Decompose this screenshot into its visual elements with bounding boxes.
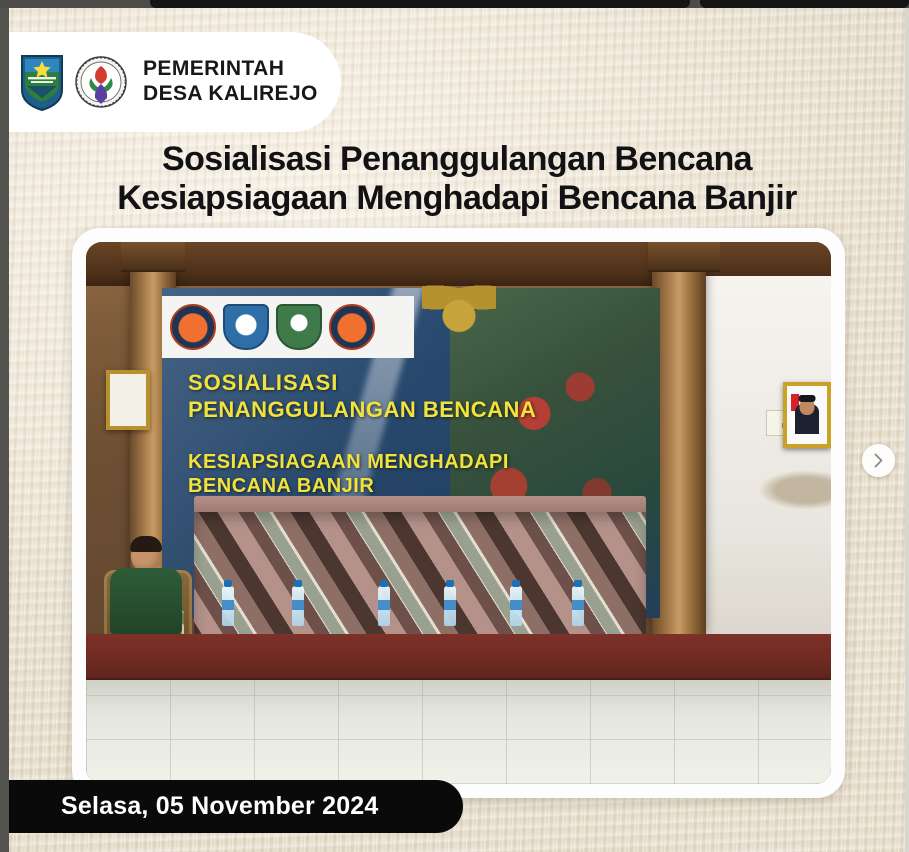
white-wall [706, 276, 831, 634]
regency-coat-of-arms-icon [19, 52, 65, 112]
chevron-right-icon [872, 453, 885, 468]
pillar-capital-left [121, 242, 185, 272]
water-bottle [222, 586, 234, 626]
wooden-pillar-right [652, 242, 706, 634]
carousel-viewport: PEMERINTAH DESA KALIREJO Sosialisasi Pen… [0, 0, 909, 852]
banner-line-2: PENANGGULANGAN BENCANA [188, 397, 628, 424]
banner-text: SOSIALISASI PENANGGULANGAN BENCANA KESIA… [188, 370, 628, 498]
speaker-head [131, 538, 161, 572]
water-bottle [292, 586, 304, 626]
speaker-military-officer [110, 538, 182, 634]
title-line-1: Sosialisasi Penanggulangan Bencana [9, 140, 905, 179]
organization-line-1: PEMERINTAH [143, 57, 318, 82]
pillar-capital-right [648, 242, 720, 272]
framed-presidential-portrait [783, 382, 831, 448]
water-bottle [572, 586, 584, 626]
banner-logo-strip [162, 296, 414, 358]
organization-header: PEMERINTAH DESA KALIREJO [9, 32, 341, 132]
village-government-seal-icon [75, 56, 127, 108]
portrait-cap [799, 395, 816, 402]
event-photo: JADILAH KEBERSIHAN [86, 242, 831, 784]
right-frame-gutter [905, 8, 909, 852]
previous-slide-sliver [0, 0, 909, 8]
water-bottle [378, 586, 390, 626]
banner-line-1: SOSIALISASI [188, 370, 628, 397]
page-title: Sosialisasi Penanggulangan Bencana Kesia… [9, 140, 905, 219]
bpbd-logo-secondary-icon [329, 304, 375, 350]
left-frame-gutter [0, 8, 9, 852]
photo-card: JADILAH KEBERSIHAN [72, 228, 845, 798]
speaker-hair [130, 536, 162, 552]
water-bottle [510, 586, 522, 626]
tiled-floor [86, 680, 831, 784]
organization-name: PEMERINTAH DESA KALIREJO [143, 57, 318, 107]
garuda-emblem-icon [422, 280, 496, 338]
speaker-body [110, 568, 182, 634]
previous-slide-chip-left [150, 0, 690, 8]
previous-slide-chip-right [700, 0, 909, 8]
water-bottle [444, 586, 456, 626]
title-line-2: Kesiapsiagaan Menghadapi Bencana Banjir [9, 179, 905, 218]
province-emblem-icon [223, 304, 269, 350]
slide-content: PEMERINTAH DESA KALIREJO Sosialisasi Pen… [9, 8, 905, 852]
event-date-banner: Selasa, 05 November 2024 [9, 780, 463, 833]
banner-line-4: BENCANA BANJIR [188, 474, 628, 498]
bpbd-logo-icon [170, 304, 216, 350]
banner-line-3: KESIAPSIAGAAN MENGHADAPI [188, 450, 628, 474]
regency-emblem-icon [276, 304, 322, 350]
stage-platform [86, 634, 831, 680]
framed-portrait-left [106, 370, 150, 430]
carousel-next-button[interactable] [862, 444, 895, 477]
organization-line-2: DESA KALIREJO [143, 82, 318, 107]
event-date-text: Selasa, 05 November 2024 [61, 792, 379, 821]
